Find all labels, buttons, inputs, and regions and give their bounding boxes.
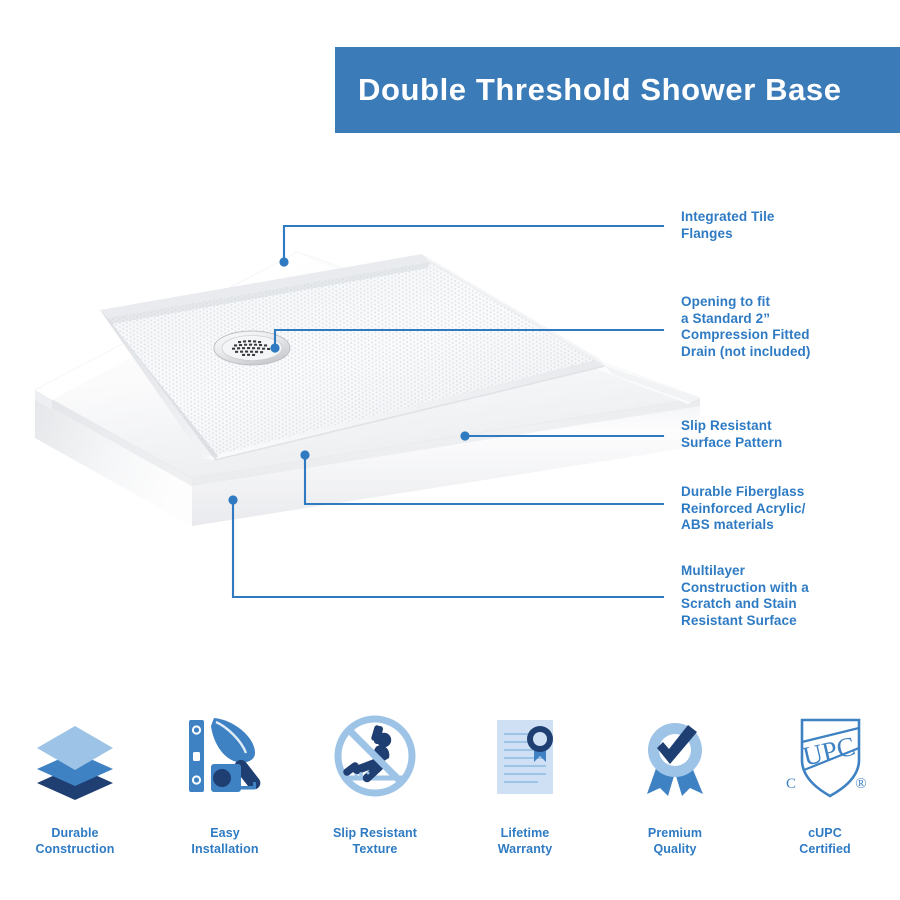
upc-letters: UPC [800, 731, 858, 772]
page-title: Double Threshold Shower Base [335, 72, 842, 108]
certificate-icon [473, 706, 577, 810]
callout-drain-opening: Opening to fit a Standard 2” Compression… [681, 294, 811, 360]
feature-slip-resistant-texture: Slip Resistant Texture [300, 706, 450, 876]
infographic-canvas: Double Threshold Shower Base [0, 0, 900, 900]
feature-durable-construction: Durable Construction [0, 706, 150, 876]
product-illustration [0, 170, 720, 640]
feature-label: Easy Installation [191, 826, 258, 857]
callout-integrated-tile-flanges: Integrated Tile Flanges [681, 209, 775, 242]
no-slip-icon [323, 706, 427, 810]
layers-icon [23, 706, 127, 810]
callout-durable-fiberglass-materials: Durable Fiberglass Reinforced Acrylic/ A… [681, 484, 805, 534]
feature-badge-strip: Durable Construction [0, 706, 900, 876]
feature-label: cUPC Certified [799, 826, 851, 857]
feature-label: Premium Quality [648, 826, 702, 857]
callout-slip-resistant-surface-pattern: Slip Resistant Surface Pattern [681, 418, 782, 451]
feature-lifetime-warranty: Lifetime Warranty [450, 706, 600, 876]
feature-label: Lifetime Warranty [498, 826, 553, 857]
drain-assembly [214, 331, 290, 365]
upc-shield-icon: UPC C ® [773, 706, 877, 810]
award-check-icon [623, 706, 727, 810]
feature-cupc-certified: UPC C ® cUPC Certified [750, 706, 900, 876]
feature-label: Durable Construction [36, 826, 115, 857]
title-banner: Double Threshold Shower Base [335, 47, 900, 133]
level-trowel-tape-icon [173, 706, 277, 810]
feature-label: Slip Resistant Texture [333, 826, 417, 857]
upc-left-mark: C [786, 776, 796, 792]
callout-multilayer-construction: Multilayer Construction with a Scratch a… [681, 563, 809, 629]
upc-right-mark: ® [855, 776, 866, 792]
shower-base-svg [0, 170, 720, 640]
feature-easy-installation: Easy Installation [150, 706, 300, 876]
feature-premium-quality: Premium Quality [600, 706, 750, 876]
